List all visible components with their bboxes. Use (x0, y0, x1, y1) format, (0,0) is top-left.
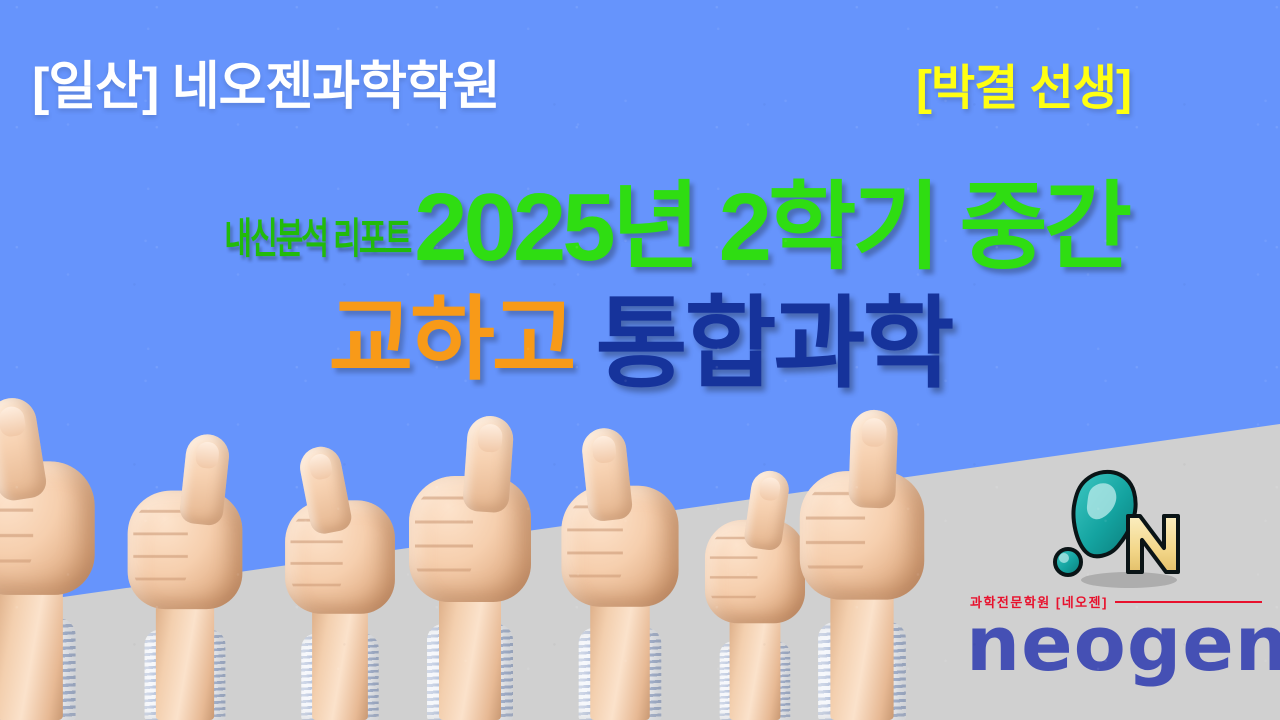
neogen-mark-icon (1024, 468, 1214, 590)
thumbnail-nail (308, 452, 334, 481)
thumbnail-nail (195, 441, 220, 470)
term-headline: 2025년 2학기 중간 (414, 180, 1128, 276)
thumbnail-canvas: [일산] 네오젠과학학원 [박결 선생] 내신분석 리포트 2025년 2학기 … (0, 0, 1280, 720)
knuckles (133, 502, 188, 596)
thumbnail-nail (861, 418, 886, 447)
thumb (462, 415, 515, 514)
academy-title: [일산] 네오젠과학학원 (32, 44, 500, 119)
thumbnail-nail (591, 435, 617, 464)
thumbs-up-hands-illustration (0, 400, 1000, 720)
thumbnail-nail (759, 476, 782, 501)
school-name: 교하고 (329, 292, 574, 389)
teacher-badge: [박결 선생] (916, 48, 1131, 118)
report-kicker: 내신분석 리포트 (224, 205, 410, 266)
thumb (580, 426, 634, 522)
thumb (848, 409, 898, 508)
logo-wordmark: neogen (966, 606, 1280, 682)
neogen-logo: 과학전문학원 [네오젠] neogen (962, 468, 1262, 692)
subject-name: 통합과학 (595, 292, 951, 397)
headline-row-subject: 교하고 통합과학 (0, 292, 1280, 412)
headline-row-term: 내신분석 리포트 2025년 2학기 중간 (0, 152, 1280, 276)
thumbnail-nail (477, 423, 503, 453)
